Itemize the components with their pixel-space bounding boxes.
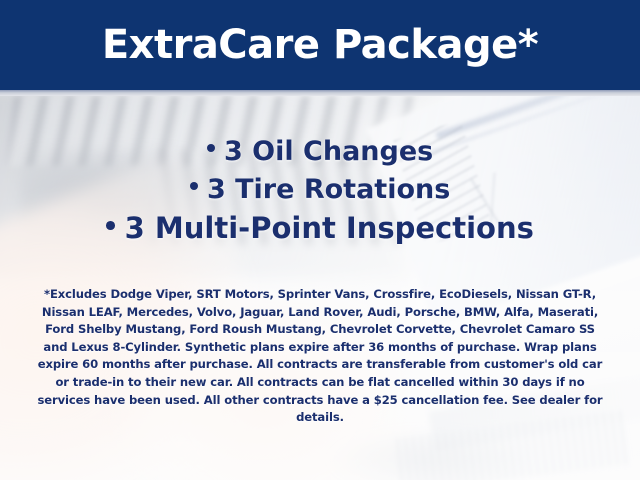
header-underline-rule [0, 90, 640, 96]
page-title: ExtraCare Package* [0, 0, 640, 90]
list-item: 3 Tire Rotations [0, 176, 640, 203]
benefit-label: 3 Oil Changes [224, 136, 433, 167]
extracare-package-ad: ExtraCare Package* 3 Oil Changes 3 Tire … [0, 0, 640, 480]
list-item: 3 Oil Changes [0, 138, 640, 165]
list-item: 3 Multi-Point Inspections [0, 214, 640, 243]
bullet-dot-icon [207, 144, 215, 152]
background-shadow [330, 430, 530, 480]
benefits-list: 3 Oil Changes 3 Tire Rotations 3 Multi-P… [0, 138, 640, 243]
bullet-dot-icon [106, 221, 115, 230]
benefit-label: 3 Multi-Point Inspections [125, 211, 534, 245]
benefit-label: 3 Tire Rotations [207, 174, 450, 205]
bullet-dot-icon [190, 182, 198, 190]
legal-disclaimer: *Excludes Dodge Viper, SRT Motors, Sprin… [34, 286, 606, 427]
